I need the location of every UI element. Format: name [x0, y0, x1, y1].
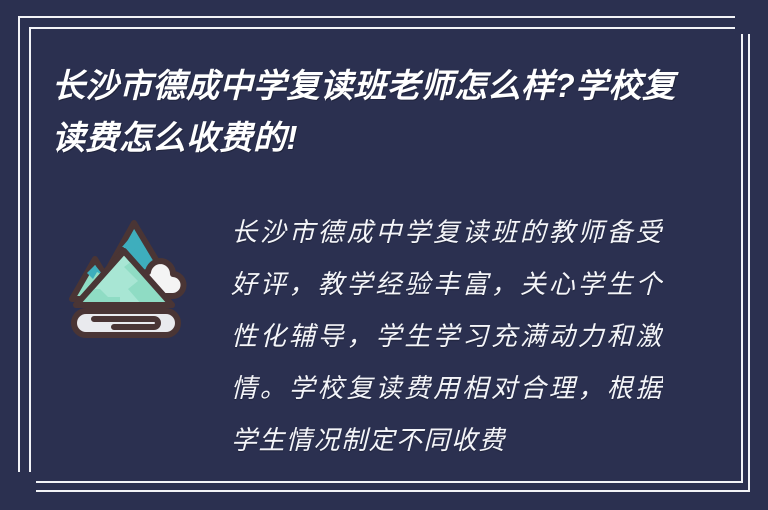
article-card: 长沙市德成中学复读班老师怎么样?学校复读费怎么收费的! [0, 0, 768, 510]
mountain-landscape-illustration [68, 205, 204, 341]
frame-corner-mask-top-right [735, 10, 757, 34]
page-title: 长沙市德成中学复读班老师怎么样?学校复读费怎么收费的! [52, 60, 682, 164]
snowboard-icon [74, 311, 178, 335]
article-body-text: 长沙市德成中学复读班的教师备受好评，教学经验丰富，关心学生个性化辅导，学生学习充… [231, 207, 663, 477]
frame-corner-mask-bottom-left [12, 472, 36, 496]
